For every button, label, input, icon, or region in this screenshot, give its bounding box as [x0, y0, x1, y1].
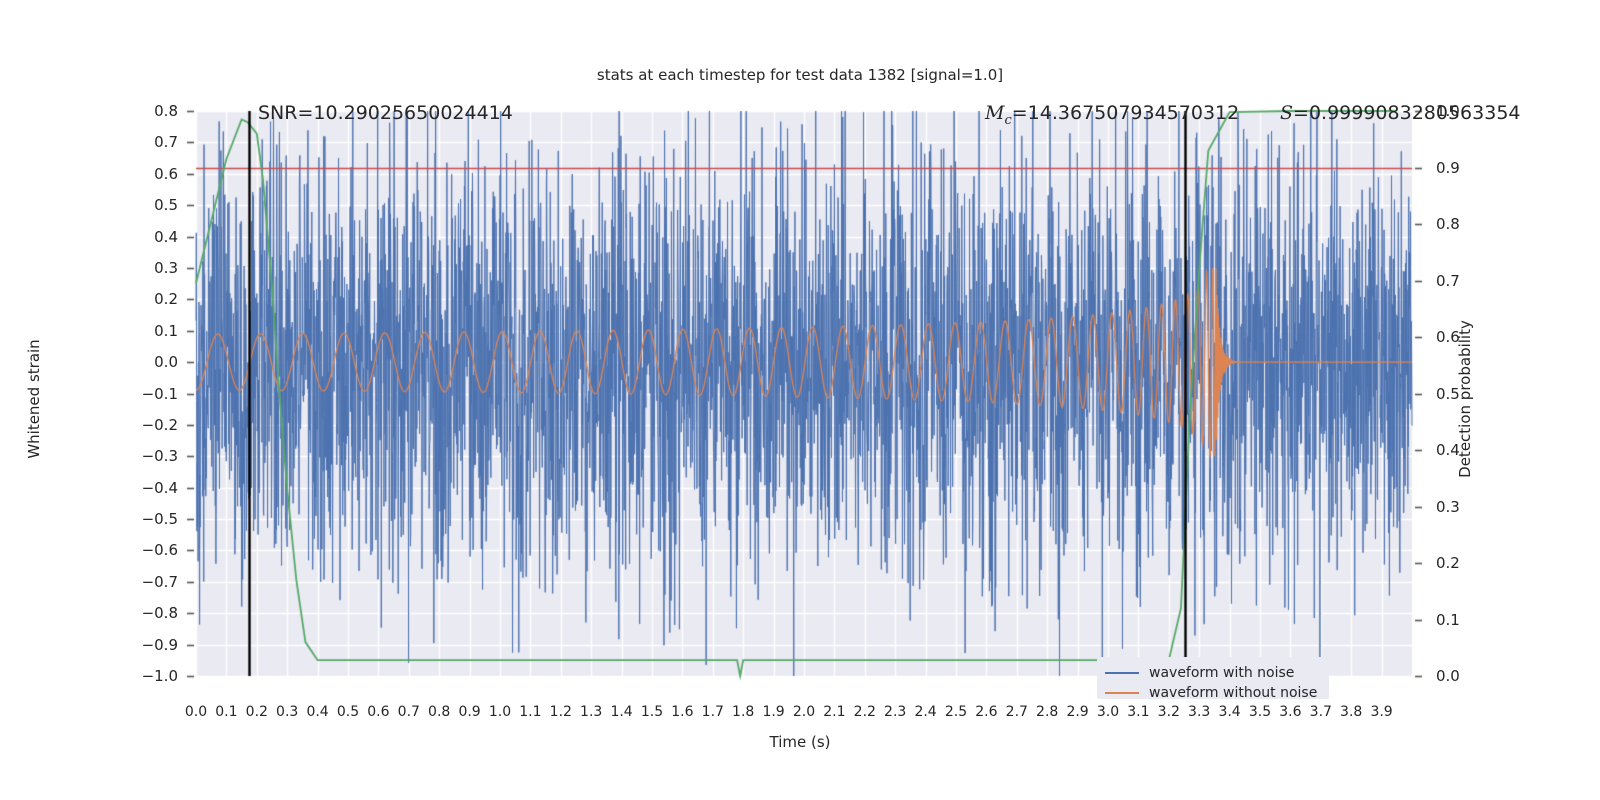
y-tick-left: 0.3: [108, 259, 178, 277]
y-tick-left: −0.7: [108, 573, 178, 591]
legend-label: waveform without noise: [1149, 685, 1317, 701]
legend[interactable]: waveform with noisewaveform without nois…: [1097, 657, 1329, 699]
legend-item[interactable]: waveform with noise: [1105, 662, 1294, 683]
y-tick-right: 0.3: [1436, 498, 1496, 516]
x-axis-label: Time (s): [0, 733, 1600, 751]
y-tick-left: 0.5: [108, 196, 178, 214]
y-tick-left: −0.5: [108, 510, 178, 528]
y-tick-right: 0.0: [1436, 667, 1496, 685]
y-tick-right: 0.5: [1436, 385, 1496, 403]
y-tick-left: −0.6: [108, 541, 178, 559]
y-tick-left: −0.8: [108, 604, 178, 622]
chirp-mass-annotation: Mc=14.367507934570312: [985, 102, 1239, 128]
legend-label: waveform with noise: [1149, 665, 1294, 681]
y-tick-right: 0.6: [1436, 328, 1496, 346]
y-tick-right: 0.8: [1436, 215, 1496, 233]
y-tick-left: 0.1: [108, 322, 178, 340]
legend-item[interactable]: waveform without noise: [1105, 682, 1317, 703]
y-tick-left: −0.3: [108, 447, 178, 465]
y-tick-right: 0.2: [1436, 554, 1496, 572]
x-tick: 3.9: [1362, 704, 1402, 720]
y-tick-right: 0.4: [1436, 441, 1496, 459]
y-tick-left: −0.9: [108, 636, 178, 654]
page-title: stats at each timestep for test data 138…: [0, 66, 1600, 84]
y-tick-left: 0.7: [108, 133, 178, 151]
y-tick-left: −0.2: [108, 416, 178, 434]
y-axis-label-left: Whitened strain: [25, 279, 43, 519]
snr-annotation: SNR=10.29025650024414: [258, 102, 513, 124]
y-tick-right: 0.1: [1436, 611, 1496, 629]
y-tick-left: 0.4: [108, 228, 178, 246]
y-tick-right: 0.9: [1436, 159, 1496, 177]
legend-swatch-icon: [1105, 692, 1139, 694]
y-tick-left: −0.4: [108, 479, 178, 497]
y-tick-left: 0.2: [108, 290, 178, 308]
score-annotation: S=0.9999083280563354: [1280, 102, 1521, 124]
y-tick-left: −1.0: [108, 667, 178, 685]
y-tick-left: 0.8: [108, 102, 178, 120]
y-tick-left: 0.6: [108, 165, 178, 183]
y-tick-left: −0.1: [108, 385, 178, 403]
y-tick-right: 0.7: [1436, 272, 1496, 290]
y-tick-left: 0.0: [108, 353, 178, 371]
legend-swatch-icon: [1105, 672, 1139, 674]
figure-container: stats at each timestep for test data 138…: [0, 0, 1600, 800]
